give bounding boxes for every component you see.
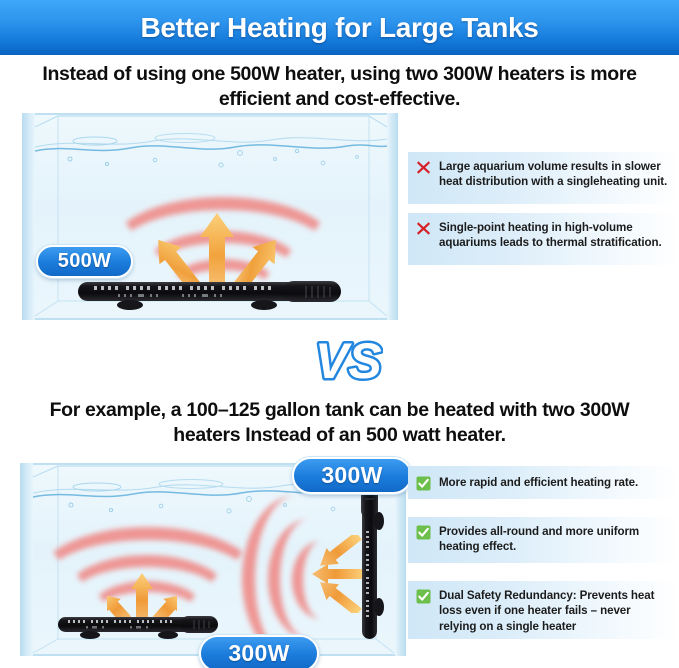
water-surface	[35, 129, 387, 181]
bullet-item-negative-1: Large aquarium volume results in slower …	[408, 152, 679, 204]
heater-horizontal-300w	[58, 613, 218, 641]
page-title: Better Heating for Large Tanks	[140, 12, 538, 44]
check-box-icon	[416, 589, 433, 604]
bottom-bullet-list: More rapid and efficient heating rate. P…	[408, 466, 679, 639]
check-box-icon	[416, 476, 433, 491]
bullet-text: Provides all-round and more uniform heat…	[439, 524, 669, 555]
vs-graphic: VS VS	[313, 330, 383, 392]
bottom-tank-illustration: 300W 300W	[20, 463, 406, 656]
wattage-badge-300w-top: 300W	[292, 457, 412, 494]
bullet-text: More rapid and efficient heating rate.	[439, 475, 638, 490]
svg-text:VS: VS	[315, 333, 382, 389]
heater-vertical-300w	[358, 481, 388, 641]
top-bullet-list: Large aquarium volume results in slower …	[408, 152, 679, 265]
infographic-page: Better Heating for Large Tanks Instead o…	[0, 0, 679, 668]
wattage-badge-300w-bottom: 300W	[199, 635, 319, 668]
check-box-icon	[416, 525, 433, 540]
bullet-item-positive-3: Dual Safety Redundancy: Prevents heat lo…	[408, 581, 679, 639]
bullet-divider	[408, 499, 679, 517]
middle-text: For example, a 100–125 gallon tank can b…	[20, 398, 659, 449]
header-banner: Better Heating for Large Tanks	[0, 0, 679, 55]
bullet-divider	[408, 563, 679, 581]
wattage-badge-500w: 500W	[36, 245, 133, 278]
intro-text: Instead of using one 500W heater, using …	[20, 62, 659, 113]
cross-icon	[416, 160, 433, 175]
bullet-item-negative-2: Single-point heating in high-volume aqua…	[408, 213, 679, 265]
bullet-text: Single-point heating in high-volume aqua…	[439, 220, 669, 251]
cross-icon	[416, 221, 433, 236]
bullet-item-positive-2: Provides all-round and more uniform heat…	[408, 517, 679, 563]
bullet-divider	[408, 204, 679, 213]
heater-horizontal-500w	[78, 277, 341, 311]
bullet-item-positive-1: More rapid and efficient heating rate.	[408, 466, 679, 499]
bullet-text: Dual Safety Redundancy: Prevents heat lo…	[439, 588, 669, 634]
bullet-text: Large aquarium volume results in slower …	[439, 159, 669, 190]
top-tank-illustration: 500W	[22, 113, 398, 320]
